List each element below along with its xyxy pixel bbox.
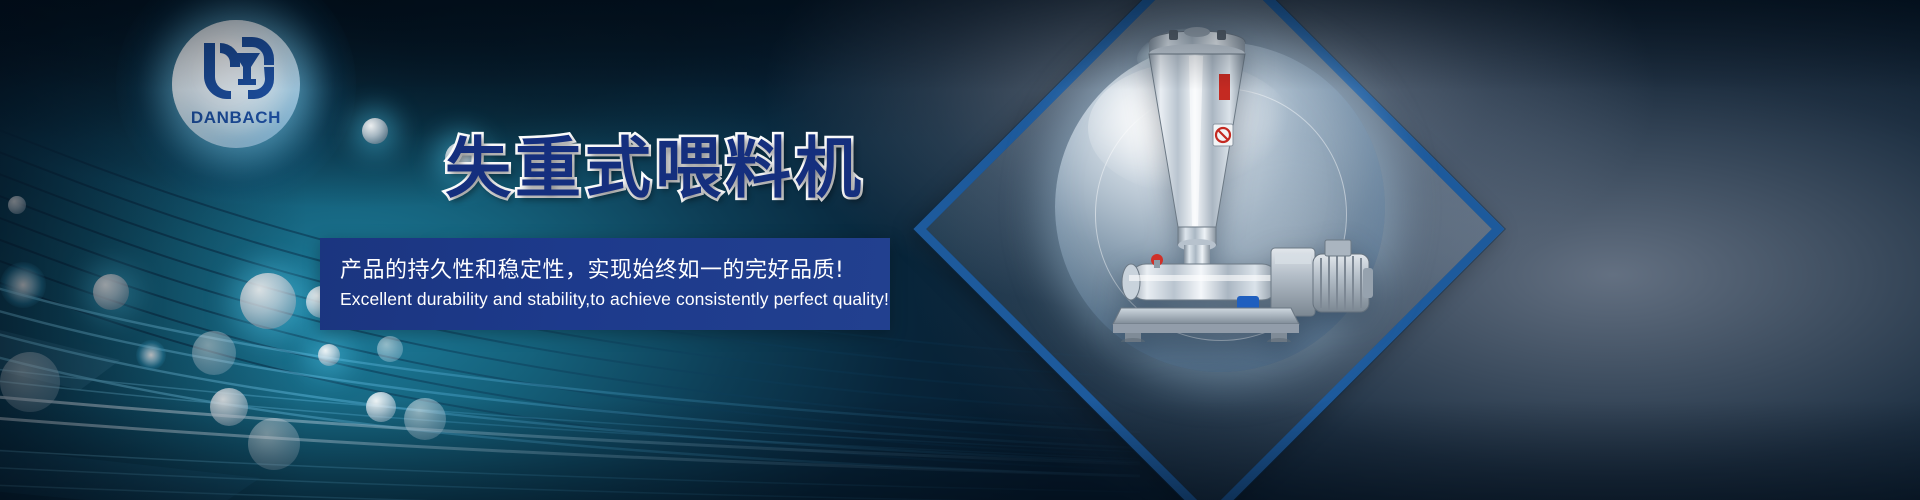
bubble-decoration bbox=[240, 273, 296, 329]
bubble-decoration bbox=[93, 274, 129, 310]
product-banner: DANBACH 失重式喂料机 产品的持久性和稳定性，实现始终如一的完好品质! E… bbox=[0, 0, 1920, 500]
bubble-decoration bbox=[377, 336, 403, 362]
spark-decoration bbox=[0, 262, 46, 308]
subtitle-chinese: 产品的持久性和稳定性，实现始终如一的完好品质! bbox=[340, 252, 844, 284]
bubble-decoration bbox=[192, 331, 236, 375]
subtitle-english: Excellent durability and stability,to ac… bbox=[340, 289, 889, 310]
danbach-monogram-icon bbox=[172, 37, 300, 99]
bubble-decoration bbox=[210, 388, 248, 426]
loss-in-weight-feeder-image bbox=[1085, 12, 1375, 342]
brand-name: DANBACH bbox=[172, 108, 300, 128]
bubble-decoration bbox=[0, 352, 60, 412]
spark-decoration bbox=[136, 340, 166, 370]
bubble-decoration bbox=[318, 344, 340, 366]
bubble-decoration bbox=[362, 118, 388, 144]
bubble-decoration bbox=[404, 398, 446, 440]
bubble-decoration bbox=[366, 392, 396, 422]
bubble-decoration bbox=[8, 196, 26, 214]
brand-logo: DANBACH bbox=[172, 20, 300, 148]
product-showcase bbox=[880, 0, 1720, 500]
subtitle-panel: 产品的持久性和稳定性，实现始终如一的完好品质! Excellent durabi… bbox=[320, 238, 890, 330]
bubble-decoration bbox=[248, 418, 300, 470]
page-title: 失重式喂料机 bbox=[445, 115, 865, 211]
